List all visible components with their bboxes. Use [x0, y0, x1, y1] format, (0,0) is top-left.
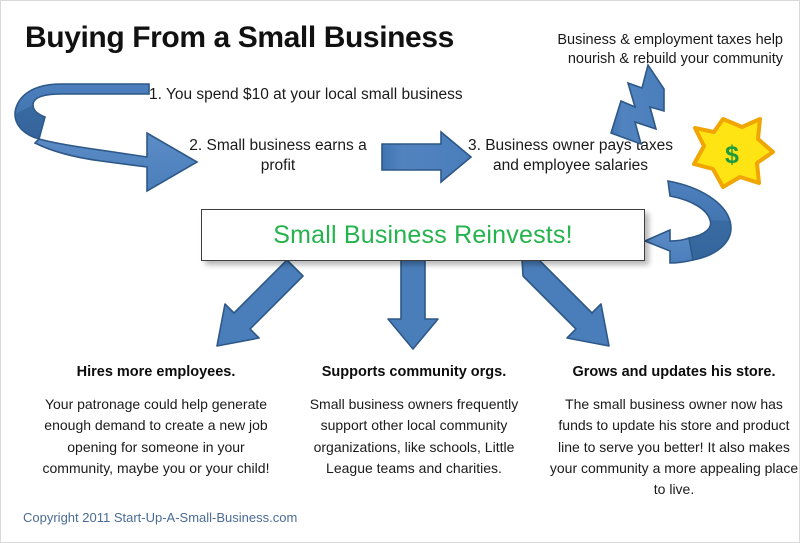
step-2-label: 2. Small business earns a profit [183, 136, 373, 177]
outcome-heading: Hires more employees. [31, 364, 281, 380]
outcome-column-community: Supports community orgs. Small business … [289, 364, 539, 479]
reinvest-banner-text: Small Business Reinvests! [273, 221, 573, 250]
arrow-banner-down-right [522, 259, 609, 346]
svg-text:$: $ [725, 141, 739, 169]
reinvest-banner: Small Business Reinvests! [201, 209, 645, 261]
step-1-label: 1. You spend $10 at your local small bus… [149, 85, 494, 105]
arrow-banner-down-left [217, 259, 303, 346]
outcome-heading: Supports community orgs. [289, 364, 539, 380]
step-3-label: 3. Business owner pays taxes and employe… [463, 136, 678, 177]
arrow-banner-down [388, 259, 438, 349]
note-taxes-community: Business & employment taxes help nourish… [521, 31, 783, 69]
dollar-starburst-icon: $ [694, 119, 773, 187]
copyright-footer: Copyright 2011 Start-Up-A-Small-Business… [23, 510, 297, 525]
outcome-column-store: Grows and updates his store. The small b… [549, 364, 799, 500]
outcome-body: Your patronage could help generate enoug… [31, 394, 281, 479]
outcome-heading: Grows and updates his store. [549, 364, 799, 380]
outcome-body: Small business owners frequently support… [289, 394, 539, 479]
loop-arrow-right [645, 181, 731, 263]
arrow-up-to-community [611, 65, 664, 144]
outcome-body: The small business owner now has funds t… [549, 394, 799, 500]
outcome-column-hires: Hires more employees. Your patronage cou… [31, 364, 281, 479]
arrow-step2-to-step3 [382, 132, 471, 182]
infographic-canvas: Buying From a Small Business [0, 0, 800, 543]
page-title: Buying From a Small Business [25, 21, 454, 55]
